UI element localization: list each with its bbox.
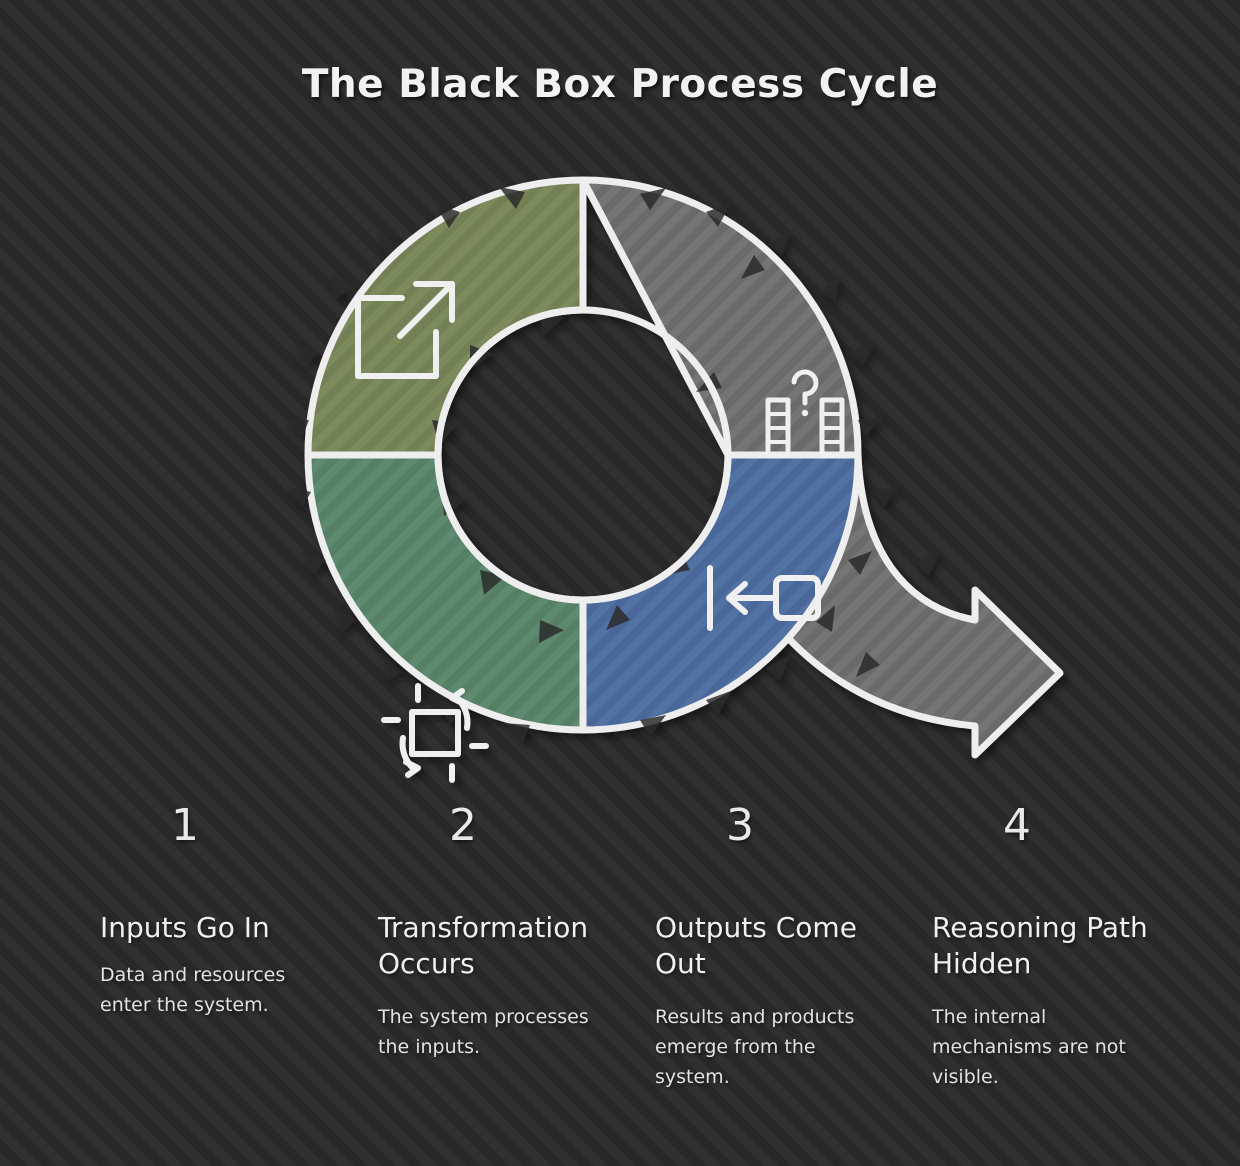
- legend-title: Inputs Go In: [100, 910, 345, 946]
- cycle-diagram-svg: [0, 120, 1240, 800]
- legend-number: 2: [378, 800, 548, 852]
- page-title: The Black Box Process Cycle: [0, 62, 1240, 107]
- cycle-diagram: [0, 120, 1240, 800]
- legend-item-4[interactable]: 4 Reasoning Path Hidden The internal mec…: [932, 800, 1182, 1092]
- legend-item-3[interactable]: 3 Outputs Come Out Results and products …: [655, 800, 905, 1092]
- legend-title: Outputs Come Out: [655, 910, 900, 982]
- legend-title: Transformation Occurs: [378, 910, 623, 982]
- legend: 1 Inputs Go In Data and resources enter …: [0, 800, 1240, 1130]
- legend-description: The system processes the inputs.: [378, 1002, 608, 1062]
- legend-item-1[interactable]: 1 Inputs Go In Data and resources enter …: [100, 800, 350, 1020]
- legend-item-2[interactable]: 2 Transformation Occurs The system proce…: [378, 800, 628, 1062]
- legend-description: Data and resources enter the system.: [100, 960, 330, 1020]
- legend-title: Reasoning Path Hidden: [932, 910, 1177, 982]
- legend-description: Results and products emerge from the sys…: [655, 1002, 885, 1092]
- legend-number: 3: [655, 800, 825, 852]
- legend-description: The internal mechanisms are not visible.: [932, 1002, 1162, 1092]
- legend-number: 4: [932, 800, 1102, 852]
- legend-number: 1: [100, 800, 270, 852]
